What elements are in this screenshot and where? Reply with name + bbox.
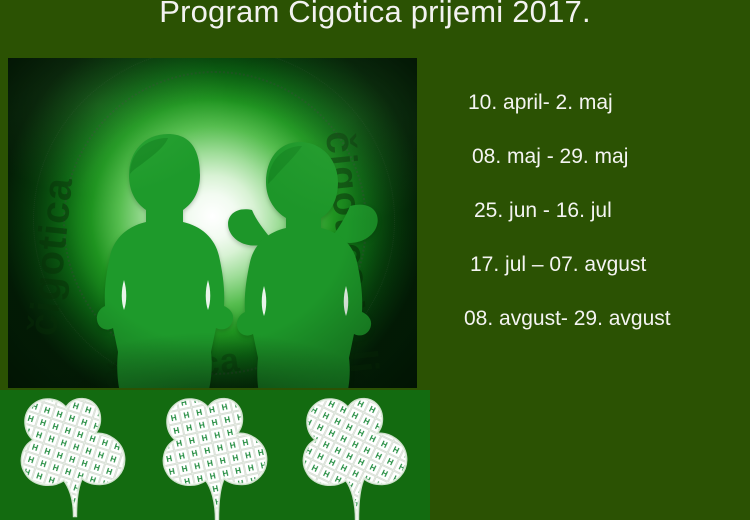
dates-list: 10. april- 2. maj 08. maj - 29. maj 25. … <box>452 92 742 329</box>
four-leaf-clover-icon: H <box>288 390 428 520</box>
list-item: 08. maj - 29. maj <box>452 146 742 167</box>
list-item: 17. jul – 07. avgust <box>452 254 742 275</box>
clover-panel: H H <box>0 390 430 520</box>
list-item: 08. avgust- 29. avgust <box>452 308 742 329</box>
four-leaf-clover-icon: H <box>148 390 288 520</box>
list-item: 10. april- 2. maj <box>452 92 742 113</box>
photo-vignette-overlay <box>8 58 417 388</box>
page-title: Program Čigotica prijemi 2017. <box>0 0 750 30</box>
slide-canvas: Program Čigotica prijemi 2017. čigotica … <box>0 0 750 520</box>
photo-panel: čigotica čigotica voli čigotica <box>8 58 417 388</box>
list-item: 25. jun - 16. jul <box>452 200 742 221</box>
four-leaf-clover-icon: H <box>6 390 146 520</box>
